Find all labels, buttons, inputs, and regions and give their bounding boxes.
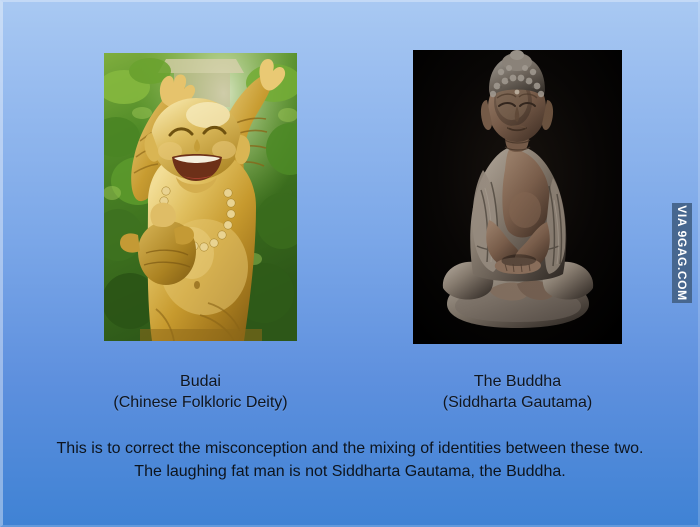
caption-budai: Budai (Chinese Folkloric Deity) [104, 371, 297, 413]
buddha-statue-photo [413, 50, 622, 344]
caption-buddha-line1: The Buddha [474, 373, 561, 390]
meme-canvas: Budai (Chinese Folkloric Deity) The Budd… [0, 0, 700, 527]
9gag-watermark-badge: VIA 9GAG.COM [672, 203, 692, 303]
caption-buddha: The Buddha (Siddharta Gautama) [413, 371, 622, 413]
buddha-statue-illustration [413, 50, 622, 344]
statement-line1: This is to correct the misconception and… [14, 437, 686, 460]
statement-text: This is to correct the misconception and… [14, 437, 686, 483]
budai-statue-photo [104, 53, 297, 341]
caption-budai-line2: (Chinese Folkloric Deity) [104, 392, 297, 413]
statement-line2: The laughing fat man is not Siddharta Ga… [14, 460, 686, 483]
9gag-watermark-label: VIA 9GAG.COM [675, 205, 689, 300]
caption-budai-line1: Budai [180, 373, 221, 390]
budai-statue-illustration [104, 53, 297, 341]
caption-buddha-line2: (Siddharta Gautama) [413, 392, 622, 413]
